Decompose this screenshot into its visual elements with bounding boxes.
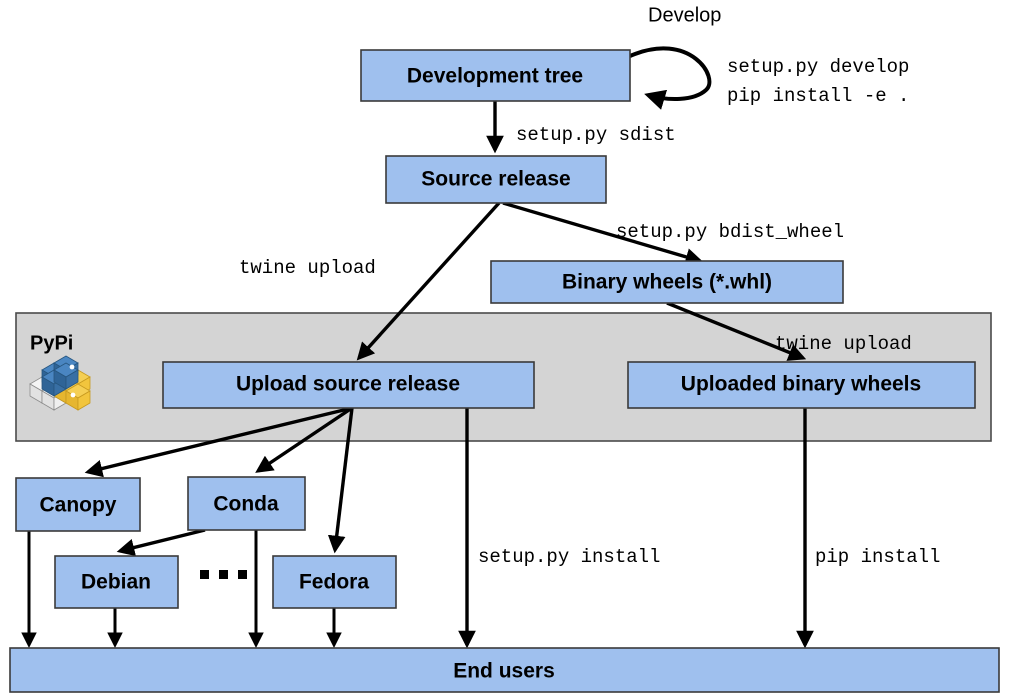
edge-label-setup-py-sdist: setup.py sdist — [516, 124, 676, 146]
node-development-tree-label: Development tree — [407, 65, 583, 88]
edge-conda-to-debian — [120, 530, 205, 551]
node-upload-source-release[interactable]: Upload source release — [163, 362, 534, 408]
edge-label-twine-upload-source: twine upload — [239, 257, 376, 279]
ellipsis-dot-3 — [238, 570, 247, 579]
node-debian[interactable]: Debian — [55, 556, 178, 608]
edge-label-twine-upload-wheels: twine upload — [775, 333, 912, 355]
edge-label-setup-py-develop: setup.py develop — [727, 56, 909, 78]
node-binary-wheels[interactable]: Binary wheels (*.whl) — [491, 261, 843, 303]
ellipsis-dots — [200, 570, 247, 579]
edge-develop-loop — [630, 48, 709, 99]
edge-label-setup-py-bdist-wheel: setup.py bdist_wheel — [616, 221, 844, 243]
node-end-users[interactable]: End users — [10, 648, 999, 692]
node-conda[interactable]: Conda — [188, 477, 305, 530]
node-conda-label: Conda — [213, 493, 279, 516]
node-canopy-label: Canopy — [39, 494, 116, 517]
edge-label-pip-install-e: pip install -e . — [727, 85, 909, 107]
edge-label-setup-py-install: setup.py install — [478, 546, 660, 568]
node-fedora[interactable]: Fedora — [273, 556, 396, 608]
node-development-tree[interactable]: Development tree — [361, 50, 630, 101]
edge-label-develop: Develop — [648, 4, 721, 26]
node-end-users-label: End users — [453, 660, 555, 683]
node-debian-label: Debian — [81, 571, 151, 594]
node-upload-source-release-label: Upload source release — [236, 373, 460, 396]
pypi-group-title: PyPi — [30, 332, 73, 354]
edge-label-pip-install: pip install — [815, 546, 940, 568]
node-binary-wheels-label: Binary wheels (*.whl) — [562, 271, 772, 294]
node-source-release-label: Source release — [421, 168, 570, 191]
ellipsis-dot-2 — [219, 570, 228, 579]
node-fedora-label: Fedora — [299, 571, 369, 594]
node-uploaded-binary-wheels-label: Uploaded binary wheels — [681, 373, 921, 396]
diagram-canvas: PyPi — [0, 0, 1009, 698]
packaging-flow-diagram: PyPi — [0, 0, 1009, 698]
node-canopy[interactable]: Canopy — [16, 478, 140, 531]
node-uploaded-binary-wheels[interactable]: Uploaded binary wheels — [628, 362, 975, 408]
node-source-release[interactable]: Source release — [386, 156, 606, 203]
ellipsis-dot-1 — [200, 570, 209, 579]
